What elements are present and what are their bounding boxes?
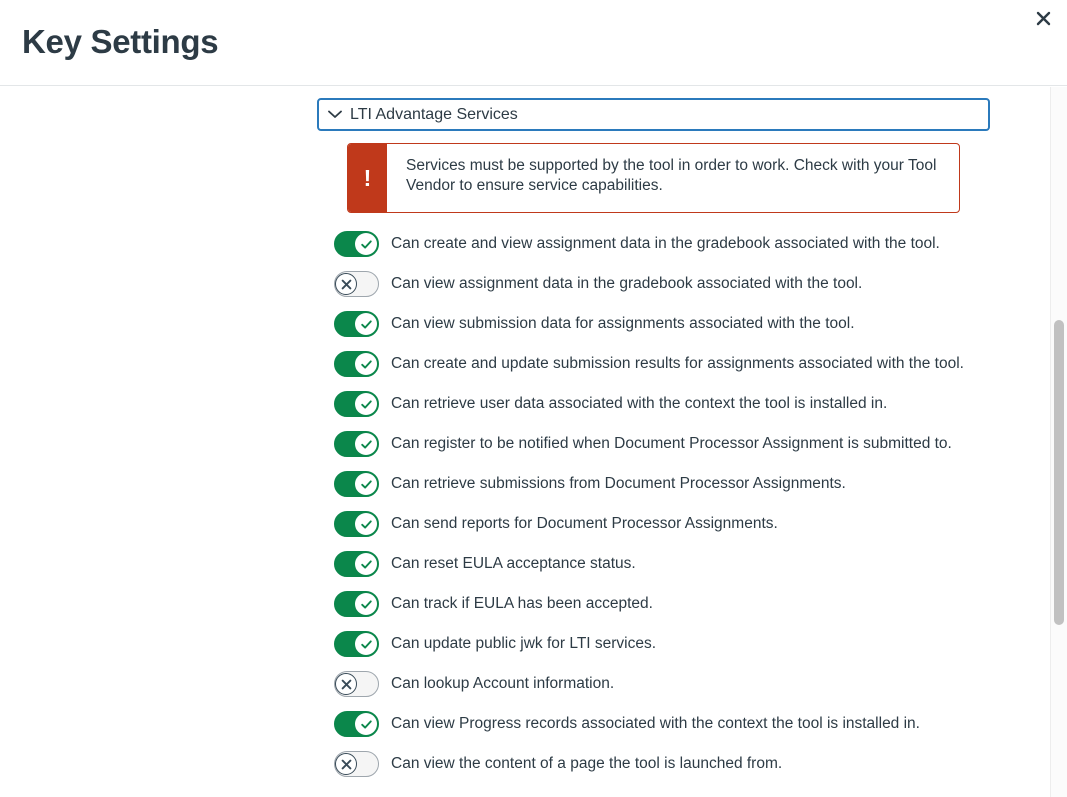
services-list: Can create and view assignment data in t… <box>0 224 1050 784</box>
service-label: Can view assignment data in the gradeboo… <box>391 274 862 294</box>
service-row: Can track if EULA has been accepted. <box>0 584 1050 624</box>
service-toggle-13[interactable] <box>334 711 379 737</box>
service-row: Can view Progress records associated wit… <box>0 704 1050 744</box>
service-toggle-5[interactable] <box>334 391 379 417</box>
service-toggle-6[interactable] <box>334 431 379 457</box>
service-label: Can track if EULA has been accepted. <box>391 594 653 614</box>
service-toggle-10[interactable] <box>334 591 379 617</box>
modal-header: Key Settings <box>0 0 1067 86</box>
service-row: Can create and view assignment data in t… <box>0 224 1050 264</box>
service-row: Can view submission data for assignments… <box>0 304 1050 344</box>
service-toggle-12[interactable] <box>334 671 379 697</box>
chevron-down-icon <box>326 106 344 124</box>
service-toggle-14[interactable] <box>334 751 379 777</box>
service-label: Can lookup Account information. <box>391 674 614 694</box>
section-toggle-label: LTI Advantage Services <box>350 105 518 125</box>
service-row: Can register to be notified when Documen… <box>0 424 1050 464</box>
modal-body: LTI Advantage Services ! Services must b… <box>0 87 1050 797</box>
cross-icon <box>335 673 357 695</box>
exclamation-icon: ! <box>348 144 387 212</box>
check-icon <box>355 473 377 495</box>
cross-icon <box>335 753 357 775</box>
service-label: Can register to be notified when Documen… <box>391 434 952 454</box>
service-toggle-11[interactable] <box>334 631 379 657</box>
warning-alert: ! Services must be supported by the tool… <box>347 143 960 213</box>
close-icon <box>1036 11 1051 26</box>
service-label: Can view the content of a page the tool … <box>391 754 782 774</box>
service-toggle-8[interactable] <box>334 511 379 537</box>
cross-icon <box>335 273 357 295</box>
check-icon <box>355 713 377 735</box>
service-toggle-1[interactable] <box>334 231 379 257</box>
check-icon <box>355 513 377 535</box>
vertical-scrollbar[interactable] <box>1050 87 1067 797</box>
service-toggle-3[interactable] <box>334 311 379 337</box>
service-row: Can create and update submission results… <box>0 344 1050 384</box>
service-toggle-9[interactable] <box>334 551 379 577</box>
service-row: Can update public jwk for LTI services. <box>0 624 1050 664</box>
service-row: Can view the content of a page the tool … <box>0 744 1050 784</box>
service-label: Can reset EULA acceptance status. <box>391 554 636 574</box>
check-icon <box>355 393 377 415</box>
check-icon <box>355 633 377 655</box>
exclamation-glyph: ! <box>364 167 372 190</box>
vertical-scrollbar-thumb[interactable] <box>1054 320 1064 625</box>
check-icon <box>355 593 377 615</box>
service-label: Can create and update submission results… <box>391 354 964 374</box>
service-label: Can view Progress records associated wit… <box>391 714 920 734</box>
service-label: Can create and view assignment data in t… <box>391 234 940 254</box>
close-button[interactable] <box>1028 5 1058 31</box>
key-settings-modal: Key Settings LTI Advantage Services ! <box>0 0 1067 797</box>
service-row: Can view assignment data in the gradeboo… <box>0 264 1050 304</box>
check-icon <box>355 433 377 455</box>
service-toggle-2[interactable] <box>334 271 379 297</box>
service-label: Can update public jwk for LTI services. <box>391 634 656 654</box>
section-toggle-lti-advantage-services[interactable]: LTI Advantage Services <box>317 98 990 131</box>
service-row: Can lookup Account information. <box>0 664 1050 704</box>
check-icon <box>355 553 377 575</box>
page-title: Key Settings <box>22 21 218 63</box>
check-icon <box>355 353 377 375</box>
service-toggle-7[interactable] <box>334 471 379 497</box>
service-label: Can retrieve user data associated with t… <box>391 394 887 414</box>
warning-alert-message: Services must be supported by the tool i… <box>387 144 959 212</box>
service-row: Can send reports for Document Processor … <box>0 504 1050 544</box>
service-toggle-4[interactable] <box>334 351 379 377</box>
check-icon <box>355 233 377 255</box>
service-row: Can retrieve user data associated with t… <box>0 384 1050 424</box>
service-label: Can view submission data for assignments… <box>391 314 855 334</box>
service-row: Can retrieve submissions from Document P… <box>0 464 1050 504</box>
check-icon <box>355 313 377 335</box>
service-label: Can retrieve submissions from Document P… <box>391 474 846 494</box>
service-row: Can reset EULA acceptance status. <box>0 544 1050 584</box>
service-label: Can send reports for Document Processor … <box>391 514 778 534</box>
